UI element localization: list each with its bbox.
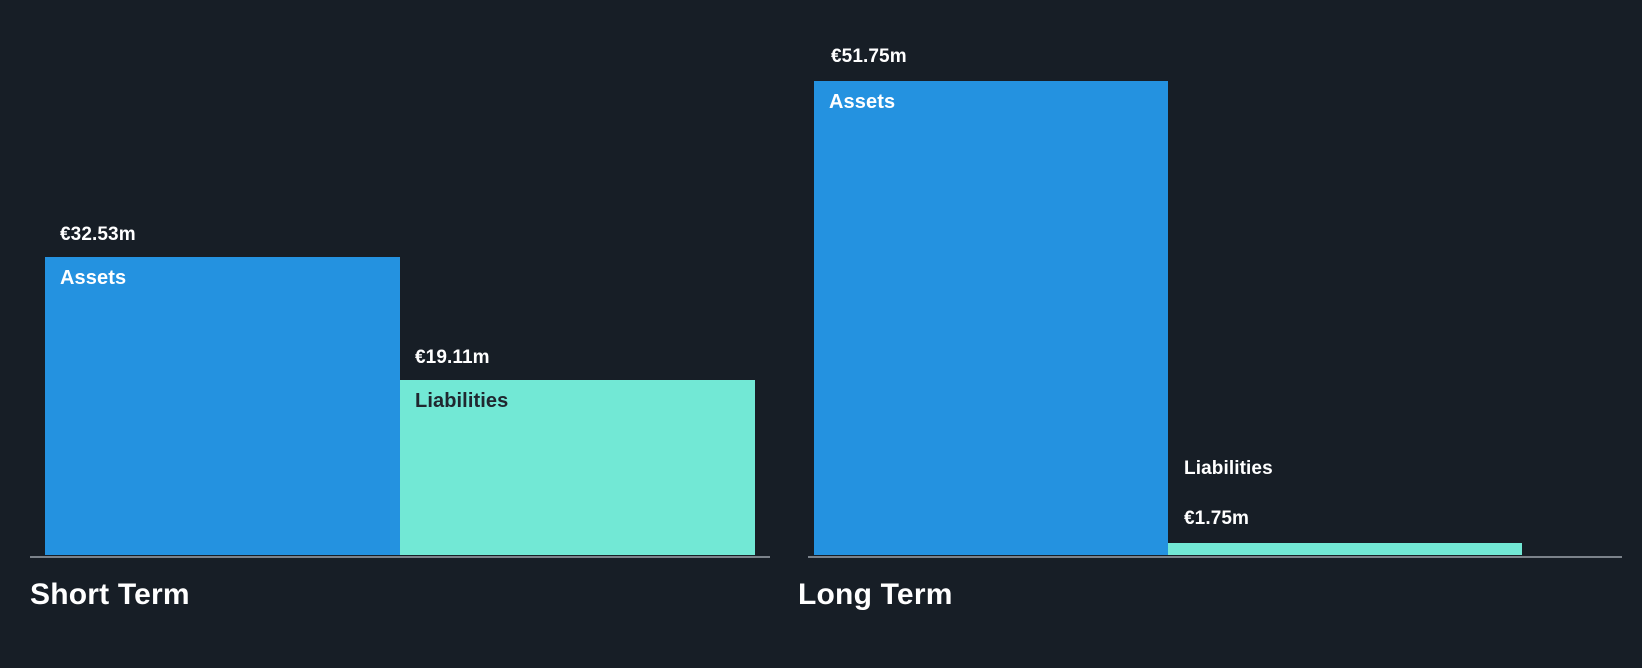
bar-label-short-term-assets: Assets (60, 267, 126, 290)
bar-label-long-term-liabilities: Liabilities (1184, 458, 1273, 480)
bar-long-term-assets[interactable]: Assets (814, 81, 1168, 555)
bar-long-term-liabilities[interactable] (1168, 543, 1522, 555)
value-label-long-term-liabilities: €1.75m (1184, 508, 1249, 530)
assets-liabilities-chart: Assets €32.53m Liabilities €19.11m Short… (0, 0, 1642, 668)
value-label-long-term-assets: €51.75m (831, 46, 907, 68)
bar-short-term-assets[interactable]: Assets (45, 257, 400, 555)
bar-label-short-term-liabilities: Liabilities (415, 390, 508, 413)
axis-baseline-long-term (808, 556, 1622, 558)
bar-label-long-term-assets: Assets (829, 91, 895, 114)
bar-short-term-liabilities[interactable]: Liabilities (400, 380, 755, 555)
value-label-short-term-assets: €32.53m (60, 224, 136, 246)
value-label-short-term-liabilities: €19.11m (415, 347, 490, 369)
axis-baseline-short-term (30, 556, 770, 558)
category-label-short-term: Short Term (30, 578, 190, 612)
panel-short-term: Assets €32.53m Liabilities €19.11m Short… (0, 0, 790, 668)
category-label-long-term: Long Term (798, 578, 953, 612)
